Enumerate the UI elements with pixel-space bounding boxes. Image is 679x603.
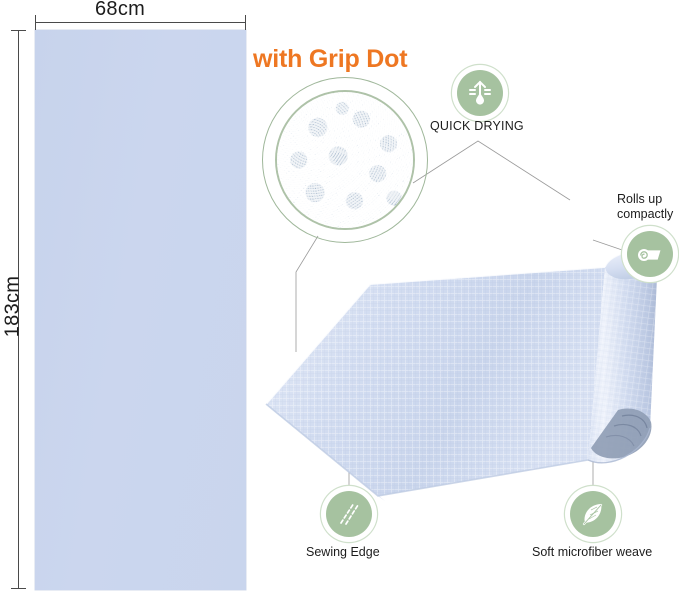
feature-badge-microfiber[interactable] [570,491,616,537]
feature-label-microfiber: Soft microfiber weave [532,545,652,560]
feature-badge-rolls-up[interactable] [627,231,673,277]
height-dimension-label: 183cm [2,262,25,352]
feature-badge-quick-drying[interactable] [457,70,503,116]
page-title: with Grip Dot [253,45,407,74]
width-tick-right [245,15,246,30]
rolled-mat-icon [635,239,665,269]
feature-label-rolls-up: Rolls up compactly [617,192,673,222]
feature-badge-sewing-edge[interactable] [326,491,372,537]
width-dimension-line [35,22,245,23]
width-dimension-label: 68cm [95,0,145,21]
feature-label-sewing-edge: Sewing Edge [306,545,380,560]
stitch-lines-icon [332,497,366,531]
yoga-mat-swatch [35,30,246,590]
height-tick-top [11,30,26,31]
towel-flat-section [266,267,605,501]
feather-icon [578,499,608,529]
feature-label-quick-drying: QUICK DRYING [430,119,524,134]
product-infographic: 68cm 183cm with Grip Dot [0,0,679,603]
rolled-towel-illustration [258,160,678,510]
height-tick-bottom [11,588,26,589]
water-drop-arrow-icon [465,78,495,108]
width-tick-left [35,15,36,30]
